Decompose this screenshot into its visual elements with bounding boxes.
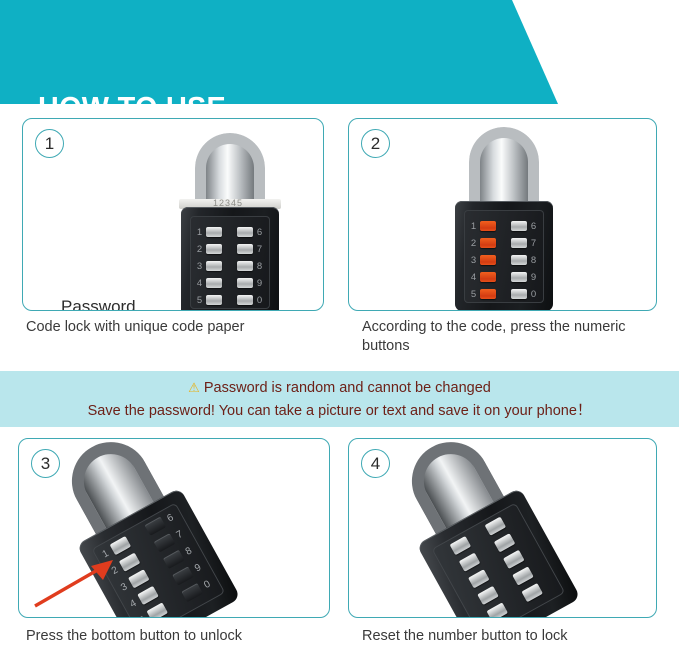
key-button-7[interactable] (494, 533, 516, 552)
key-button-8[interactable] (503, 550, 525, 569)
key-label-2 (450, 568, 459, 573)
key-label-1: 1 (469, 221, 478, 232)
key-label-7: 7 (529, 238, 538, 249)
key-label-6: 6 (163, 511, 177, 525)
key-label-7: 7 (172, 527, 186, 541)
key-button-9[interactable] (237, 278, 253, 288)
step-panel-3: 3 1 2 3 4 5 6 7 8 9 0 (18, 438, 330, 618)
key-button-5[interactable] (486, 602, 508, 618)
warning-triangle-icon: ⚠ (188, 380, 200, 395)
notice-line-1: Password is random and cannot be changed (204, 380, 491, 396)
key-button-9[interactable] (511, 272, 527, 282)
step-badge-4: 4 (361, 449, 390, 478)
key-label-0 (543, 582, 552, 587)
key-label-9 (533, 565, 542, 570)
step-badge-1: 1 (35, 129, 64, 158)
key-button-3[interactable] (206, 261, 222, 271)
key-button-5[interactable] (146, 602, 168, 618)
key-button-5-pressed[interactable] (480, 289, 496, 299)
key-label-6: 6 (529, 221, 538, 232)
key-label-1: 1 (195, 227, 204, 238)
key-label-9: 9 (191, 561, 205, 575)
key-button-8[interactable] (163, 550, 185, 569)
step-badge-2: 2 (361, 129, 390, 158)
key-label-8: 8 (529, 255, 538, 266)
key-label-0: 0 (255, 295, 264, 306)
key-button-3[interactable] (468, 569, 490, 588)
key-label-0: 0 (529, 289, 538, 300)
key-button-2[interactable] (459, 553, 481, 572)
key-button-6[interactable] (237, 227, 253, 237)
padlock-illustration-1: 12345 1 2 3 4 5 6 7 8 9 0 (169, 133, 293, 311)
notice-line-1-wrap: ⚠ Password is random and cannot be chang… (0, 376, 679, 400)
password-label: Password (61, 297, 136, 311)
key-button-8[interactable] (511, 255, 527, 265)
key-button-7[interactable] (154, 533, 176, 552)
key-button-2[interactable] (206, 244, 222, 254)
key-label-3 (460, 585, 469, 590)
key-label-7 (515, 532, 524, 537)
key-button-3-pressed[interactable] (480, 255, 496, 265)
key-button-2-pressed[interactable] (480, 238, 496, 248)
key-button-0[interactable] (181, 583, 203, 602)
key-button-9[interactable] (512, 566, 534, 585)
infographic-root: HOW TO USE THE COMBINATION LOCK 1 Passwo… (0, 0, 679, 656)
key-button-6[interactable] (511, 221, 527, 231)
step-caption-2: According to the code, press the numeric… (362, 318, 662, 356)
key-button-4-pressed[interactable] (480, 272, 496, 282)
step-caption-4: Reset the number button to lock (362, 627, 662, 646)
step-badge-3: 3 (31, 449, 60, 478)
key-button-4[interactable] (137, 586, 159, 605)
shackle-icon (469, 127, 539, 203)
step-panel-1: 1 Password 12345 12345 1 2 3 4 5 (22, 118, 324, 311)
key-button-8[interactable] (237, 261, 253, 271)
key-label-3: 3 (469, 255, 478, 266)
keypad: 1 2 3 4 5 6 7 8 9 0 (195, 225, 267, 311)
step-caption-1: Code lock with unique code paper (26, 318, 326, 337)
key-button-3[interactable] (128, 569, 150, 588)
step-panel-4: 4 (348, 438, 657, 618)
key-label-4: 4 (469, 272, 478, 283)
key-button-4[interactable] (477, 586, 499, 605)
step-caption-3: Press the bottom button to unlock (26, 627, 336, 646)
key-button-5[interactable] (206, 295, 222, 305)
padlock-illustration-2: 1 2 3 4 5 6 7 8 9 0 (443, 127, 567, 311)
key-label-3: 3 (195, 261, 204, 272)
key-label-0: 0 (200, 577, 214, 591)
padlock-illustration-4 (415, 438, 555, 618)
key-label-6: 6 (255, 227, 264, 238)
key-button-7[interactable] (237, 244, 253, 254)
key-label-2: 2 (195, 244, 204, 255)
shackle-icon (195, 133, 265, 209)
key-label-8 (524, 549, 533, 554)
key-label-9: 9 (529, 272, 538, 283)
key-label-7: 7 (255, 244, 264, 255)
key-button-0[interactable] (521, 583, 543, 602)
key-label-8: 8 (182, 544, 196, 558)
key-button-0[interactable] (511, 289, 527, 299)
header-banner: HOW TO USE THE COMBINATION LOCK (0, 0, 679, 104)
key-label-4: 4 (195, 278, 204, 289)
warning-notice: ⚠ Password is random and cannot be chang… (0, 371, 679, 427)
step-panel-2: 2 1 2 3 4 5 6 7 8 9 0 (348, 118, 657, 311)
notice-line-2: Save the password! You can take a pictur… (0, 400, 679, 423)
key-button-1[interactable] (206, 227, 222, 237)
key-button-0[interactable] (237, 295, 253, 305)
key-label-9: 9 (255, 278, 264, 289)
key-label-5: 5 (195, 295, 204, 306)
lock-body: 1 2 3 4 5 6 7 8 9 0 (455, 201, 553, 311)
key-button-7[interactable] (511, 238, 527, 248)
lock-body: 1 2 3 4 5 6 7 8 9 0 (181, 207, 279, 311)
key-label-4 (469, 601, 478, 606)
key-label-1 (441, 551, 450, 556)
key-label-6 (506, 516, 515, 521)
keypad: 1 2 3 4 5 6 7 8 9 0 (469, 219, 541, 305)
key-button-4[interactable] (206, 278, 222, 288)
pointer-arrow-icon (29, 554, 125, 612)
key-button-1-pressed[interactable] (480, 221, 496, 231)
key-label-5: 5 (469, 289, 478, 300)
key-label-8: 8 (255, 261, 264, 272)
key-label-2: 2 (469, 238, 478, 249)
key-button-9[interactable] (172, 566, 194, 585)
